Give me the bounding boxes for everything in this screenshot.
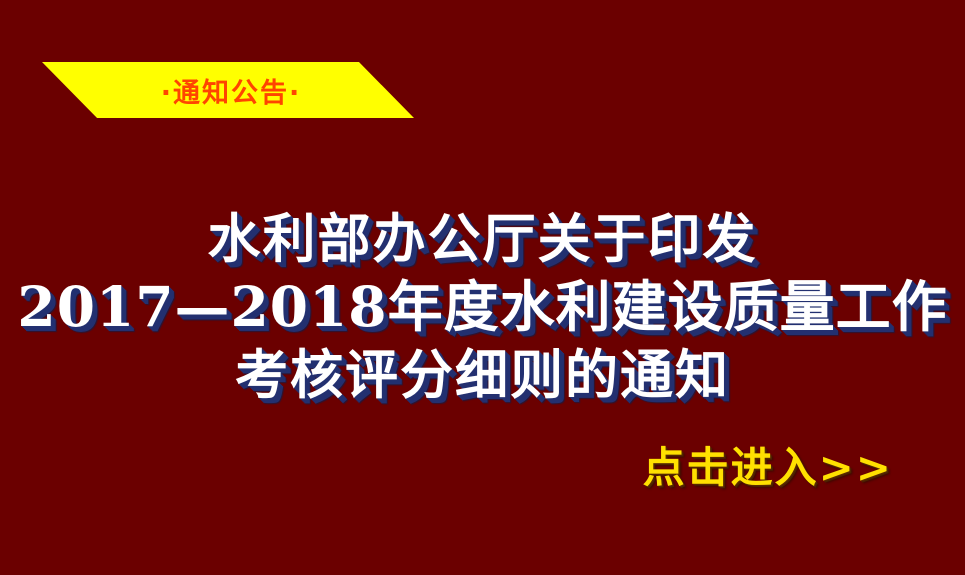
page-title: 水利部办公厅关于印发 2017—2018年度水利建设质量工作 考核评分细则的通知 bbox=[0, 205, 965, 409]
banner-label: ·通知公告· bbox=[42, 62, 414, 118]
enter-link[interactable]: 点击进入>> bbox=[643, 434, 893, 495]
notice-poster: ·通知公告· 水利部办公厅关于印发 2017—2018年度水利建设质量工作 考核… bbox=[0, 0, 965, 575]
page-title-line-2: 2017—2018年度水利建设质量工作 bbox=[0, 273, 965, 341]
page-title-line-1: 水利部办公厅关于印发 bbox=[0, 205, 965, 273]
notice-banner: ·通知公告· bbox=[42, 62, 414, 118]
page-title-line-3: 考核评分细则的通知 bbox=[0, 341, 965, 409]
